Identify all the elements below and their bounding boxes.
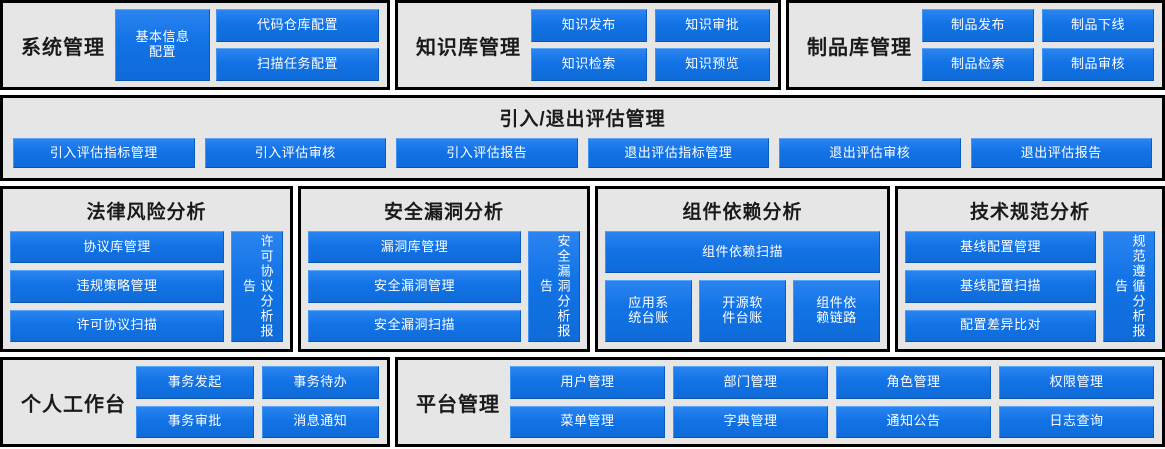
btn-knowledge-approve[interactable]: 知识审批 <box>655 9 771 42</box>
product-repo-management-title: 制品库管理 <box>797 31 922 60</box>
btn-role-management[interactable]: 角色管理 <box>836 366 991 399</box>
security-vulnerability-analysis-title: 安全漏洞分析 <box>308 197 580 224</box>
btn-license-analysis-report[interactable]: 许可协议分析报告 <box>231 231 283 342</box>
panel-technical-specification-analysis: 技术规范分析 基线配置管理 基线配置扫描 配置差异比对 规范遵循分析报告 <box>895 186 1165 352</box>
btn-log-query[interactable]: 日志查询 <box>999 406 1154 439</box>
btn-violation-policy-management[interactable]: 违规策略管理 <box>10 270 224 302</box>
btn-menu-management[interactable]: 菜单管理 <box>510 406 665 439</box>
btn-basic-info-config[interactable]: 基本信息 配置 <box>115 9 210 81</box>
component-dependency-analysis-title: 组件依赖分析 <box>605 197 880 224</box>
platform-management-title: 平台管理 <box>406 388 510 417</box>
btn-product-publish[interactable]: 制品发布 <box>922 9 1034 42</box>
btn-dept-management[interactable]: 部门管理 <box>673 366 828 399</box>
btn-intro-eval-review[interactable]: 引入评估审核 <box>205 138 387 168</box>
panel-evaluation-management: 引入/退出评估管理 引入评估指标管理 引入评估审核 引入评估报告 退出评估指标管… <box>0 95 1165 181</box>
btn-component-dependency-scan[interactable]: 组件依赖扫描 <box>605 231 880 273</box>
bottom-row: 个人工作台 事务发起 事务审批 事务待办 消息通知 平台管理 用户管理 菜单管理 <box>0 357 1165 447</box>
btn-app-system-ledger[interactable]: 应用系 统台账 <box>605 280 692 342</box>
panel-system-management: 系统管理 基本信息 配置 代码仓库配置 扫描任务配置 <box>0 0 390 90</box>
btn-code-repo-config[interactable]: 代码仓库配置 <box>216 9 379 42</box>
btn-knowledge-search[interactable]: 知识检索 <box>531 48 647 81</box>
btn-license-repo-management[interactable]: 协议库管理 <box>10 231 224 263</box>
btn-exit-eval-report[interactable]: 退出评估报告 <box>971 138 1153 168</box>
btn-security-vuln-analysis-report[interactable]: 安全漏洞分析报告 <box>528 231 580 342</box>
evaluation-management-title: 引入/退出评估管理 <box>499 104 665 131</box>
btn-security-vuln-management[interactable]: 安全漏洞管理 <box>308 270 521 302</box>
btn-component-dependency-chain[interactable]: 组件依 赖链路 <box>793 280 880 342</box>
btn-exit-eval-review[interactable]: 退出评估审核 <box>779 138 961 168</box>
analysis-row: 法律风险分析 协议库管理 违规策略管理 许可协议扫描 许可协议分析报告 安全漏洞… <box>0 186 1165 352</box>
btn-intro-eval-indicator-management[interactable]: 引入评估指标管理 <box>13 138 195 168</box>
btn-spec-compliance-analysis-report[interactable]: 规范遵循分析报告 <box>1103 231 1155 342</box>
btn-knowledge-publish[interactable]: 知识发布 <box>531 9 647 42</box>
btn-exit-eval-indicator-management[interactable]: 退出评估指标管理 <box>588 138 770 168</box>
btn-message-notify[interactable]: 消息通知 <box>262 406 380 439</box>
system-management-title: 系统管理 <box>11 31 115 60</box>
btn-task-initiate[interactable]: 事务发起 <box>136 366 254 399</box>
btn-product-review[interactable]: 制品审核 <box>1042 48 1154 81</box>
btn-task-approve[interactable]: 事务审批 <box>136 406 254 439</box>
basic-info-config-wrap: 基本信息 配置 <box>115 9 210 81</box>
panel-component-dependency-analysis: 组件依赖分析 组件依赖扫描 应用系 统台账 开源软 件台账 组件依 赖链路 <box>595 186 890 352</box>
panel-legal-risk-analysis: 法律风险分析 协议库管理 违规策略管理 许可协议扫描 许可协议分析报告 <box>0 186 293 352</box>
btn-license-scan[interactable]: 许可协议扫描 <box>10 310 224 342</box>
knowledge-management-title: 知识库管理 <box>406 31 531 60</box>
legal-risk-analysis-title: 法律风险分析 <box>10 197 283 224</box>
architecture-diagram: 系统管理 基本信息 配置 代码仓库配置 扫描任务配置 知识库管理 知识发布 知识… <box>0 0 1165 447</box>
btn-security-vuln-scan[interactable]: 安全漏洞扫描 <box>308 310 521 342</box>
panel-security-vulnerability-analysis: 安全漏洞分析 漏洞库管理 安全漏洞管理 安全漏洞扫描 安全漏洞分析报告 <box>298 186 590 352</box>
top-row: 系统管理 基本信息 配置 代码仓库配置 扫描任务配置 知识库管理 知识发布 知识… <box>0 0 1165 90</box>
personal-workbench-title: 个人工作台 <box>11 388 136 417</box>
btn-intro-eval-report[interactable]: 引入评估报告 <box>396 138 578 168</box>
btn-dict-management[interactable]: 字典管理 <box>673 406 828 439</box>
btn-config-diff-compare[interactable]: 配置差异比对 <box>905 310 1096 342</box>
btn-permission-management[interactable]: 权限管理 <box>999 366 1154 399</box>
btn-vuln-repo-management[interactable]: 漏洞库管理 <box>308 231 521 263</box>
btn-product-offline[interactable]: 制品下线 <box>1042 9 1154 42</box>
panel-platform-management: 平台管理 用户管理 菜单管理 部门管理 字典管理 角色管理 通知公告 权限管理 … <box>395 357 1165 447</box>
btn-opensource-software-ledger[interactable]: 开源软 件台账 <box>699 280 786 342</box>
btn-task-todo[interactable]: 事务待办 <box>262 366 380 399</box>
btn-knowledge-preview[interactable]: 知识预览 <box>655 48 771 81</box>
btn-baseline-config-management[interactable]: 基线配置管理 <box>905 231 1096 263</box>
panel-product-repo-management: 制品库管理 制品发布 制品检索 制品下线 制品审核 <box>786 0 1165 90</box>
btn-baseline-config-scan[interactable]: 基线配置扫描 <box>905 270 1096 302</box>
panel-personal-workbench: 个人工作台 事务发起 事务审批 事务待办 消息通知 <box>0 357 390 447</box>
btn-user-management[interactable]: 用户管理 <box>510 366 665 399</box>
btn-product-search[interactable]: 制品检索 <box>922 48 1034 81</box>
panel-knowledge-management: 知识库管理 知识发布 知识检索 知识审批 知识预览 <box>395 0 781 90</box>
technical-specification-analysis-title: 技术规范分析 <box>905 197 1155 224</box>
btn-scan-task-config[interactable]: 扫描任务配置 <box>216 48 379 81</box>
btn-notice-announcement[interactable]: 通知公告 <box>836 406 991 439</box>
